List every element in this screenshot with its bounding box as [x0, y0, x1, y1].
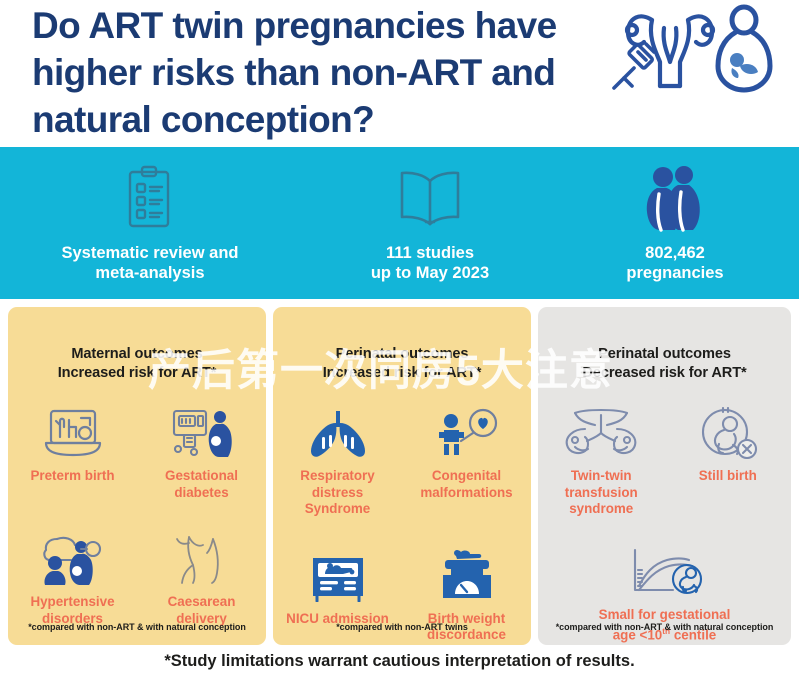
incubator-icon — [307, 546, 369, 602]
band-item-studies: 111 studies up to May 2023 — [300, 147, 560, 299]
outcome-item-caesarean-delivery: Caesarean delivery — [137, 529, 266, 627]
two-pregnant-women-icon — [645, 159, 705, 237]
fetus-inside-icon — [730, 53, 758, 78]
panels-section: Maternal outcomes Increased risk for ART… — [0, 307, 799, 645]
panel-title: Perinatal outcomes Decreased risk for AR… — [538, 307, 791, 383]
footer-note: *Study limitations warrant cautious inte… — [0, 652, 799, 671]
clipboard-checklist-icon — [123, 159, 177, 237]
band-item-systematic-review: Systematic review and meta-analysis — [20, 147, 280, 299]
uterus-syringe-icon — [627, 16, 713, 86]
outcome-item-twin-twin-transfusion: Twin-twin transfusion syndrome — [538, 403, 665, 518]
outcome-label: Still birth — [699, 468, 757, 485]
panel-item-grid: Preterm birth — [8, 403, 266, 627]
growth-chart-fetus-icon — [615, 542, 715, 598]
outcome-item-respiratory-distress: Respiratory distress Syndrome — [273, 403, 402, 518]
panel-footnote: *compared with non-ART twins — [273, 622, 531, 632]
stillbirth-fetus-cross-icon — [697, 403, 759, 459]
outcome-label: Twin-twin transfusion syndrome — [565, 468, 638, 518]
outcome-item-congenital-malformations: Congenital malformations — [402, 403, 531, 518]
infographic-page: Do ART twin pregnancies have higher risk… — [0, 0, 799, 684]
glucose-monitor-pregnant-icon — [170, 403, 234, 459]
outcome-label: Respiratory distress Syndrome — [277, 468, 398, 518]
twin-fetuses-placenta-icon — [561, 403, 641, 459]
panel-perinatal-decreased: Perinatal outcomes Decreased risk for AR… — [538, 307, 791, 645]
outcome-item-still-birth: Still birth — [665, 403, 792, 518]
baby-magnifier-heart-icon — [435, 403, 499, 459]
ultrasound-monitor-icon — [42, 403, 104, 459]
panel-title: Maternal outcomes Increased risk for ART… — [8, 307, 266, 383]
outcome-label: Gestational diabetes — [165, 468, 238, 501]
band-item-label: 802,462 pregnancies — [626, 243, 723, 283]
header-section: Do ART twin pregnancies have higher risk… — [0, 0, 799, 145]
lungs-icon — [307, 403, 369, 459]
outcome-item-gestational-diabetes: Gestational diabetes — [137, 403, 266, 501]
outcome-label: Preterm birth — [30, 468, 114, 485]
open-book-icon — [395, 159, 465, 237]
baby-weighing-scale-icon — [437, 546, 497, 602]
panel-footnote: *compared with non-ART & with natural co… — [538, 622, 791, 632]
band-item-label: Systematic review and meta-analysis — [61, 243, 238, 283]
panel-maternal-outcomes: Maternal outcomes Increased risk for ART… — [8, 307, 266, 645]
panel-title: Perinatal outcomes Increased risk for AR… — [273, 307, 531, 383]
band-item-pregnancies: 802,462 pregnancies — [560, 147, 790, 299]
summary-band: Systematic review and meta-analysis 111 … — [0, 147, 799, 299]
panel-item-grid: Twin-twin transfusion syndrome — [538, 403, 791, 644]
outcome-item-preterm-birth: Preterm birth — [8, 403, 137, 501]
blood-pressure-pregnant-icon — [41, 529, 105, 585]
outcome-item-hypertensive-disorders: Hypertensive disorders — [8, 529, 137, 627]
panel-perinatal-increased: Perinatal outcomes Increased risk for AR… — [273, 307, 531, 645]
pregnant-woman-fetus-icon — [718, 7, 770, 90]
syringe-icon — [614, 44, 654, 88]
panel-footnote: *compared with non-ART & with natural co… — [8, 622, 266, 632]
header-icon-group — [594, 4, 774, 96]
page-title: Do ART twin pregnancies have higher risk… — [32, 2, 592, 143]
caesarean-scar-icon — [173, 529, 231, 585]
band-item-label: 111 studies up to May 2023 — [371, 243, 489, 283]
panel-item-grid: Respiratory distress Syndrome — [273, 403, 531, 644]
outcome-label: Congenital malformations — [420, 468, 512, 501]
